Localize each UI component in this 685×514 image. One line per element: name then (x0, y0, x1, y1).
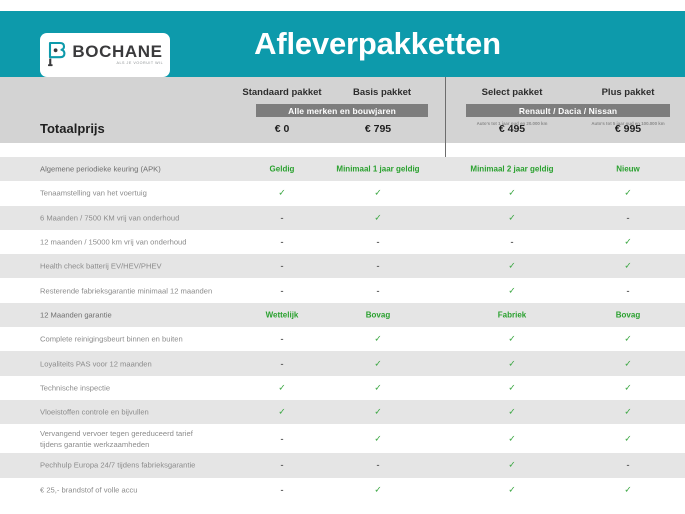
cell-basis: ✓ (328, 484, 428, 495)
table-row: Health check batterij EV/HEV/PHEV--✓✓ (0, 254, 685, 278)
cell-plus: ✓ (578, 382, 678, 393)
feature-comparison-table: Algemene periodieke keuring (APK)GeldigM… (0, 157, 685, 502)
cell-standaard: Geldig (232, 165, 332, 174)
cell-plus: ✓ (578, 237, 678, 248)
cell-select: ✓ (462, 212, 562, 223)
cell-plus: ✓ (578, 407, 678, 418)
cell-basis: ✓ (328, 433, 428, 444)
cell-plus: - (578, 460, 678, 470)
column-header-block: Totaalprijs Standaard pakket Basis pakke… (0, 77, 685, 143)
cell-select: ✓ (462, 382, 562, 393)
cell-basis: ✓ (328, 358, 428, 369)
cell-select: ✓ (462, 433, 562, 444)
totaalprijs-label: Totaalprijs (40, 121, 105, 136)
cell-plus: ✓ (578, 261, 678, 272)
price-basis: € 795 (328, 123, 428, 135)
cell-basis: ✓ (328, 212, 428, 223)
row-label: € 25,- brandstof of volle accu (40, 484, 138, 495)
table-row: Loyaliteits PAS voor 12 maanden-✓✓✓ (0, 351, 685, 375)
table-row: Algemene periodieke keuring (APK)GeldigM… (0, 157, 685, 181)
cell-standaard: - (232, 213, 332, 223)
cell-standaard: - (232, 485, 332, 495)
bochane-logo: BOCHANE ALS JE VOORUIT WIL (40, 33, 170, 77)
table-row: Resterende fabrieksgarantie minimaal 12 … (0, 278, 685, 302)
row-label: Complete reinigingsbeurt binnen en buite… (40, 334, 183, 345)
price-select: € 495 (462, 123, 562, 135)
row-label: Health check batterij EV/HEV/PHEV (40, 261, 162, 272)
row-label: Tenaamstelling van het voertuig (40, 188, 147, 199)
row-label: Vervangend vervoer tegen gereduceerd tar… (40, 428, 193, 450)
table-row: Pechhulp Europa 24/7 tijdens fabrieksgar… (0, 453, 685, 477)
cell-basis: - (328, 261, 428, 271)
cell-select: ✓ (462, 285, 562, 296)
cell-basis: - (328, 286, 428, 296)
row-label: 12 Maanden garantie (40, 309, 112, 320)
bochane-mark-icon (47, 41, 67, 67)
cell-select: ✓ (462, 261, 562, 272)
table-row: Vloeistoffen controle en bijvullen✓✓✓✓ (0, 400, 685, 424)
cell-basis: Bovag (328, 310, 428, 319)
cell-standaard: - (232, 434, 332, 444)
row-label: Vloeistoffen controle en bijvullen (40, 407, 149, 418)
row-label: Technische inspectie (40, 382, 110, 393)
cell-basis: ✓ (328, 382, 428, 393)
cell-basis: Minimaal 1 jaar geldig (328, 165, 428, 174)
column-header-select: Select pakket (462, 87, 562, 98)
price-plus: € 995 (578, 123, 678, 135)
group-bar-renault-dacia-nissan: Renault / Dacia / Nissan (466, 104, 670, 117)
row-label: Algemene periodieke keuring (APK) (40, 164, 161, 175)
table-row: Complete reinigingsbeurt binnen en buite… (0, 327, 685, 351)
cell-plus: ✓ (578, 433, 678, 444)
logo-wordmark: BOCHANE (72, 43, 162, 60)
cell-standaard: - (232, 237, 332, 247)
table-row: € 25,- brandstof of volle accu-✓✓✓ (0, 478, 685, 502)
cell-standaard: ✓ (232, 188, 332, 199)
cell-standaard: ✓ (232, 407, 332, 418)
row-label: Resterende fabrieksgarantie minimaal 12 … (40, 285, 212, 296)
cell-select: Fabriek (462, 310, 562, 319)
cell-plus: ✓ (578, 358, 678, 369)
row-label: Pechhulp Europa 24/7 tijdens fabrieksgar… (40, 460, 195, 471)
column-header-standaard: Standaard pakket (232, 87, 332, 98)
cell-basis: ✓ (328, 188, 428, 199)
table-row: 6 Maanden / 7500 KM vrij van onderhoud-✓… (0, 206, 685, 230)
logo-tagline: ALS JE VOORUIT WIL (116, 62, 163, 66)
cell-standaard: ✓ (232, 382, 332, 393)
cell-standaard: - (232, 261, 332, 271)
table-row: Tenaamstelling van het voertuig✓✓✓✓ (0, 181, 685, 205)
cell-standaard: - (232, 286, 332, 296)
cell-basis: ✓ (328, 334, 428, 345)
cell-standaard: - (232, 334, 332, 344)
column-header-basis: Basis pakket (332, 87, 432, 98)
cell-standaard: - (232, 460, 332, 470)
cell-select: ✓ (462, 484, 562, 495)
cell-standaard: Wettelijk (232, 310, 332, 319)
row-label: Loyaliteits PAS voor 12 maanden (40, 358, 152, 369)
column-header-plus: Plus pakket (578, 87, 678, 98)
cell-plus: - (578, 213, 678, 223)
cell-plus: ✓ (578, 484, 678, 495)
cell-select: ✓ (462, 358, 562, 369)
table-row: Technische inspectie✓✓✓✓ (0, 376, 685, 400)
cell-plus: - (578, 286, 678, 296)
table-row: 12 Maanden garantieWettelijkBovagFabriek… (0, 303, 685, 327)
cell-select: ✓ (462, 460, 562, 471)
table-row: Vervangend vervoer tegen gereduceerd tar… (0, 424, 685, 453)
cell-basis: - (328, 237, 428, 247)
cell-standaard: - (232, 359, 332, 369)
row-label: 6 Maanden / 7500 KM vrij van onderhoud (40, 212, 179, 223)
price-standaard: € 0 (232, 123, 332, 135)
cell-select: ✓ (462, 334, 562, 345)
cell-select: ✓ (462, 407, 562, 418)
cell-plus: Nieuw (578, 165, 678, 174)
row-label: 12 maanden / 15000 km vrij van onderhoud (40, 237, 187, 248)
cell-select: ✓ (462, 188, 562, 199)
cell-plus: ✓ (578, 334, 678, 345)
cell-select: - (462, 237, 562, 247)
cell-basis: - (328, 460, 428, 470)
group-bar-alle-merken: Alle merken en bouwjaren (256, 104, 428, 117)
table-row: 12 maanden / 15000 km vrij van onderhoud… (0, 230, 685, 254)
cell-plus: ✓ (578, 188, 678, 199)
cell-plus: Bovag (578, 310, 678, 319)
cell-select: Minimaal 2 jaar geldig (462, 165, 562, 174)
cell-basis: ✓ (328, 407, 428, 418)
page-header: Afleverpakketten BOCHANE ALS JE VOORUIT … (0, 11, 685, 77)
afleverpakketten-page: Afleverpakketten BOCHANE ALS JE VOORUIT … (0, 0, 685, 514)
